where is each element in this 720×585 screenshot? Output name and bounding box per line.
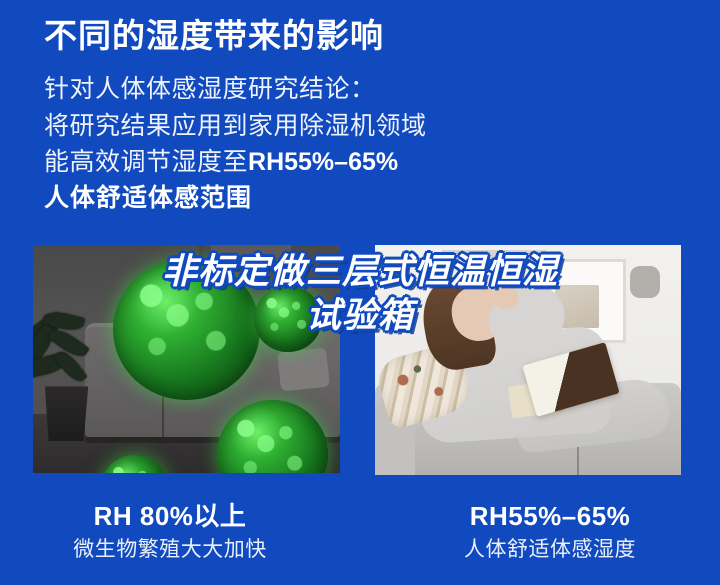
caption-comfort-humidity: RH55%–65% 人体舒适体感湿度: [358, 500, 720, 563]
conclusion-line-1: 针对人体体感湿度研究结论：: [44, 71, 684, 107]
page-title: 不同的湿度带来的影响: [44, 16, 684, 56]
dark-room-scene: [33, 245, 340, 473]
caption-left-subtitle: 微生物繁殖大大加快: [0, 536, 340, 563]
conclusion-line-3-prefix: 能高效调节湿度至: [44, 148, 248, 176]
caption-high-humidity: RH 80%以上 微生物繁殖大大加快: [0, 500, 358, 563]
conclusion-text-block: 针对人体体感湿度研究结论： 将研究结果应用到家用除湿机领域 能高效调节湿度至RH…: [44, 71, 684, 216]
caption-row: RH 80%以上 微生物繁殖大大加快 RH55%–65% 人体舒适体感湿度: [0, 500, 720, 563]
conclusion-line-3: 能高效调节湿度至RH55%–65%: [44, 144, 684, 180]
sofa-cushion: [277, 347, 330, 391]
microbe-cluster-large: [113, 259, 260, 400]
photo-panel-high-humidity: [33, 245, 340, 473]
humidity-infographic-poster: 不同的湿度带来的影响 针对人体体感湿度研究结论： 将研究结果应用到家用除湿机领域…: [0, 0, 720, 585]
wall-panel: [211, 245, 291, 265]
bright-room-scene: [375, 245, 681, 475]
caption-left-title: RH 80%以上: [0, 500, 340, 533]
caption-right-subtitle: 人体舒适体感湿度: [380, 536, 720, 563]
microbe-cluster-small: [254, 286, 322, 352]
header-text-block: 不同的湿度带来的影响 针对人体体感湿度研究结论： 将研究结果应用到家用除湿机领域…: [44, 16, 684, 216]
house-plant: [33, 313, 113, 395]
conclusion-line-2: 将研究结果应用到家用除湿机领域: [44, 108, 684, 144]
humidity-range-value: RH55%–65%: [248, 148, 398, 176]
wall-speaker: [630, 266, 660, 298]
photo-panel-comfort-humidity: [375, 245, 681, 475]
caption-right-title: RH55%–65%: [380, 500, 720, 533]
wall-shelf: [442, 250, 546, 258]
conclusion-line-4: 人体舒适体感范围: [44, 180, 684, 216]
